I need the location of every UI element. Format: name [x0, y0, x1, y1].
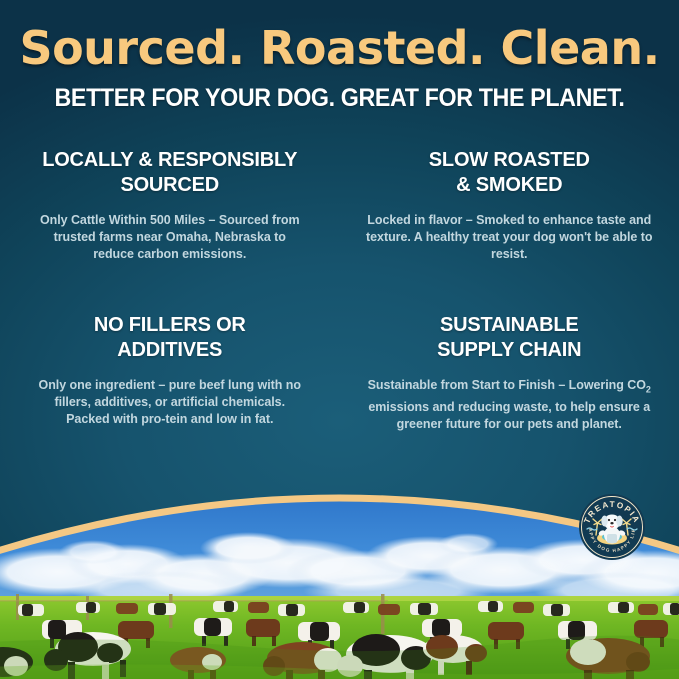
co2-subscript: 2 [646, 385, 651, 395]
feature-title-line1: SUSTAINABLE [366, 313, 654, 338]
pasture-photo-svg [0, 444, 679, 679]
feature-title-line2: SOURCED [26, 173, 314, 198]
feature-body: Only Cattle Within 500 Miles – Sourced f… [26, 212, 314, 263]
marketing-poster: Sourced. Roasted. Clean. BETTER FOR YOUR… [0, 0, 679, 679]
feature-locally-sourced: LOCALLY & RESPONSIBLY SOURCED Only Cattl… [0, 148, 340, 313]
brand-logo-svg: TREATOPIA HAPPY DOG HAPPY LIFE [578, 493, 646, 561]
feature-row-1: LOCALLY & RESPONSIBLY SOURCED Only Cattl… [0, 148, 679, 313]
feature-title-line2: SUPPLY CHAIN [366, 338, 654, 363]
feature-title-line2: ADDITIVES [26, 338, 314, 363]
feature-sustainable-supply: SUSTAINABLE SUPPLY CHAIN Sustainable fro… [340, 313, 679, 453]
brand-logo-badge: TREATOPIA HAPPY DOG HAPPY LIFE [578, 493, 646, 561]
feature-title: SUSTAINABLE SUPPLY CHAIN [366, 313, 654, 363]
feature-no-fillers: NO FILLERS OR ADDITIVES Only one ingredi… [0, 313, 340, 453]
feature-body: Sustainable from Start to Finish – Lower… [366, 377, 654, 433]
pasture-photo [0, 444, 679, 679]
feature-title: SLOW ROASTED & SMOKED [366, 148, 654, 198]
feature-body: Only one ingredient – pure beef lung wit… [26, 377, 314, 428]
feature-title-line2: & SMOKED [366, 173, 654, 198]
headline: Sourced. Roasted. Clean. [0, 22, 679, 74]
feature-title-line1: LOCALLY & RESPONSIBLY [26, 148, 314, 173]
feature-row-2: NO FILLERS OR ADDITIVES Only one ingredi… [0, 313, 679, 453]
feature-body-text-cont: emissions and reducing waste, to help en… [368, 400, 650, 431]
subheadline: BETTER FOR YOUR DOG. GREAT FOR THE PLANE… [24, 83, 655, 113]
feature-slow-roasted: SLOW ROASTED & SMOKED Locked in flavor –… [340, 148, 679, 313]
feature-title: NO FILLERS OR ADDITIVES [26, 313, 314, 363]
feature-grid: LOCALLY & RESPONSIBLY SOURCED Only Cattl… [0, 148, 679, 453]
feature-body: Locked in flavor – Smoked to enhance tas… [366, 212, 654, 263]
feature-title-line1: SLOW ROASTED [366, 148, 654, 173]
feature-title: LOCALLY & RESPONSIBLY SOURCED [26, 148, 314, 198]
feature-title-line1: NO FILLERS OR [26, 313, 314, 338]
feature-body-text: Sustainable from Start to Finish – Lower… [368, 378, 646, 392]
